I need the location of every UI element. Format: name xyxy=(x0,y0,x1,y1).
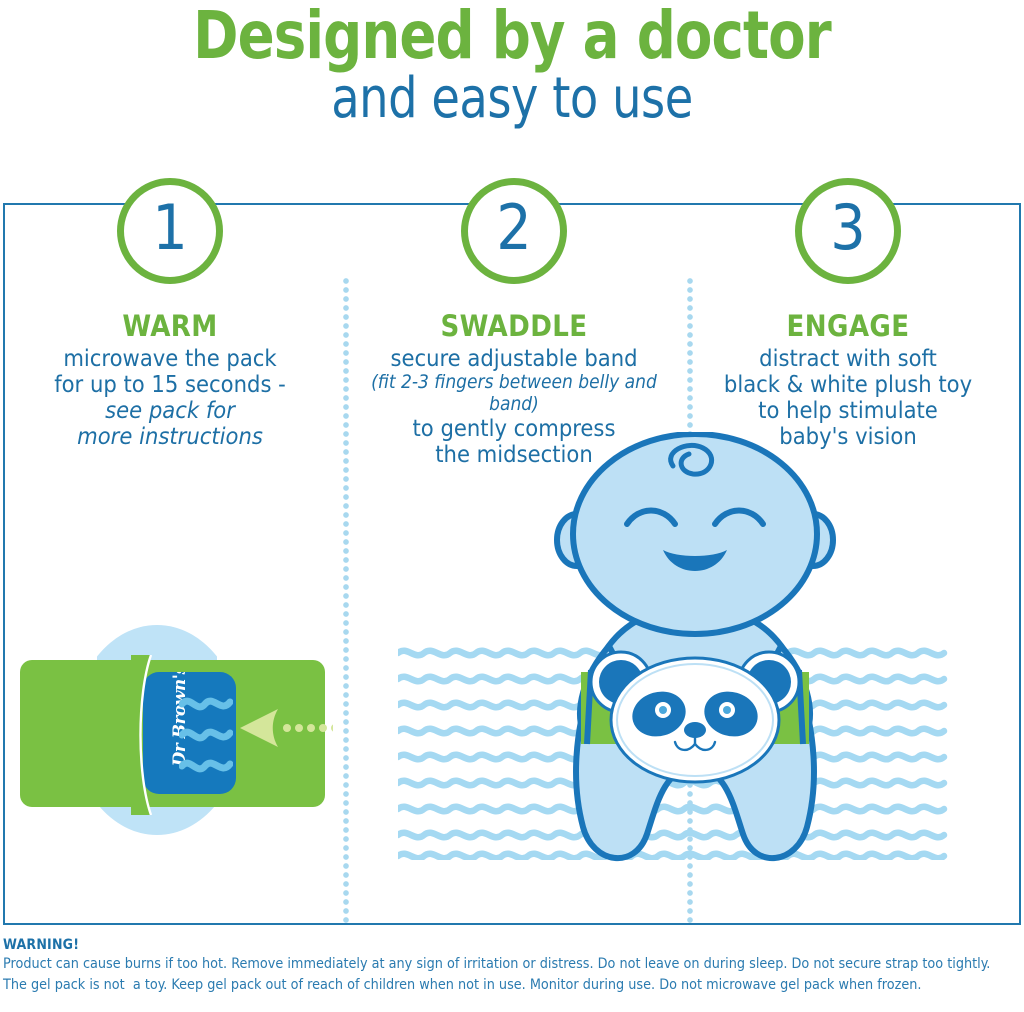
step-2-body: secure adjustable band (fit 2-3 fingers … xyxy=(344,345,684,467)
step-3-line-3: to help stimulate xyxy=(758,396,938,424)
warning-line-2: The gel pack is not a toy. Keep gel pack… xyxy=(3,975,1006,996)
step-2-title: SWADDLE xyxy=(344,310,684,342)
step-3-number: 3 xyxy=(830,197,865,259)
step-1-number: 1 xyxy=(152,197,187,259)
step-1-line-2: for up to 15 seconds - xyxy=(54,370,286,398)
page-title: Designed by a doctor and easy to use xyxy=(0,0,1024,130)
step-3-body: distract with soft black & white plush t… xyxy=(678,345,1018,449)
infographic-root: Designed by a doctor and easy to use Dr … xyxy=(0,0,1024,1012)
step-1-title: WARM xyxy=(0,310,340,342)
baby-illustration xyxy=(535,432,855,897)
wave-lines-icon xyxy=(179,690,233,778)
title-line-primary: Designed by a doctor xyxy=(41,0,983,72)
step-3-line-1: distract with soft xyxy=(759,344,937,372)
step-2: 2 SWADDLE secure adjustable band (fit 2-… xyxy=(344,178,684,467)
step-2-line-1: secure adjustable band xyxy=(390,344,637,372)
step-2-line-4: the midsection xyxy=(435,440,592,468)
step-1-line-1: microwave the pack xyxy=(63,344,276,372)
title-line-secondary: and easy to use xyxy=(41,68,983,130)
step-2-line-2: (fit 2-3 fingers between belly and band) xyxy=(344,371,684,415)
step-3-line-4: baby's vision xyxy=(779,422,916,450)
step-1: 1 WARM microwave the pack for up to 15 s… xyxy=(0,178,340,449)
step-2-number-badge: 2 xyxy=(461,178,567,284)
step-1-line-4: more instructions xyxy=(0,423,340,449)
step-3-line-2: black & white plush toy xyxy=(724,370,972,398)
step-1-number-badge: 1 xyxy=(117,178,223,284)
step-3-number-badge: 3 xyxy=(795,178,901,284)
step-2-line-3: to gently compress xyxy=(413,414,616,442)
step-2-number: 2 xyxy=(496,197,531,259)
step-1-body: microwave the pack for up to 15 seconds … xyxy=(0,345,340,449)
step-1-line-3: see pack for xyxy=(0,397,340,423)
pack-tear-edge xyxy=(131,655,165,815)
warning-heading: WARNING! xyxy=(3,936,1021,954)
insert-direction-arrow xyxy=(238,703,333,753)
warning-block: WARNING! Product can cause burns if too … xyxy=(3,936,1021,996)
step-3: 3 ENGAGE distract with soft black & whit… xyxy=(678,178,1018,449)
warning-line-1: Product can cause burns if too hot. Remo… xyxy=(3,954,1006,975)
step-3-title: ENGAGE xyxy=(678,310,1018,342)
